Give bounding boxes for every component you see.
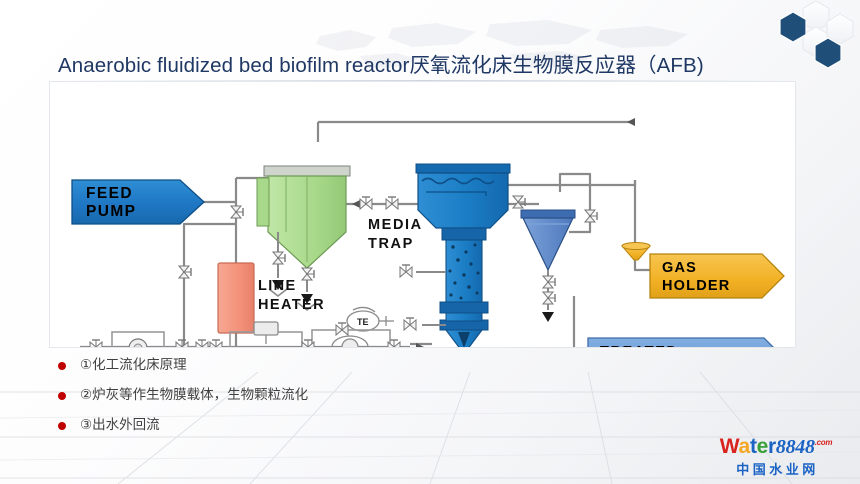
valve-media-trap-inlet-b [386,197,398,209]
valve-pump-discharge [176,340,188,347]
logo-letter-w: W [720,435,739,458]
bullet-dot-icon [58,392,66,400]
hex-filled-left [780,12,806,42]
bullet-text: ①化工流化床原理 [80,357,187,373]
valve-bypass [179,266,191,278]
recirculation-pump [124,339,152,347]
valve-separator-drain-b [543,292,555,304]
valve-feed-header [231,206,243,218]
instrument-tag-te: TE [357,317,369,327]
media-trap-label-line1: MEDIA [368,217,423,233]
line-heater-label-line2: HEATER [258,297,325,313]
gas-holder-arrow: GAS HOLDER [650,254,784,298]
logo-letter-a: a [739,435,750,458]
control-valve-actuator [254,322,278,344]
logo-letter-e: e [757,435,768,458]
flow-element-instrument [332,336,368,347]
title-underline [50,80,795,81]
list-item: ③出水外回流 [58,412,618,439]
list-item: ①化工流化床原理 [58,352,618,379]
bullet-dot-icon [58,362,66,370]
gas-holder-label-line2: HOLDER [662,278,730,294]
separator-cone-vessel [521,210,575,270]
logo-wordmark: Water8848.com [706,432,846,458]
valve-fe-top [336,323,348,335]
valve-pump-suction [90,340,102,347]
gas-holder-label-line1: GAS [662,260,697,276]
valve-heater-outlet [196,340,208,347]
line-heater-label-line1: LINE [258,278,297,294]
logo-letter-t: t [750,435,757,458]
list-item: ②炉灰等作生物膜载体，生物颗粒流化 [58,382,618,409]
process-flow-diagram: FEED PUMP [50,82,795,347]
gas-holder-funnel [622,243,650,261]
watermark-logo: Water8848.com 中国水业网 [706,432,846,478]
page-title: Anaerobic fluidized bed biofilm reactor厌… [58,48,818,78]
logo-tld: .com [815,438,832,447]
diagram-image-panel: FEED PUMP [50,82,795,347]
media-trap-vessel [257,166,350,268]
bullet-text: ③出水外回流 [80,417,160,433]
valve-separator-return [585,210,597,222]
treated-water-label-line1: TREATED [600,344,679,347]
bullet-dot-icon [58,422,66,430]
valve-media-trap-right [302,268,314,280]
valve-reactor-bottom [404,318,416,330]
logo-number: 8848 [776,436,815,458]
logo-letter-r: r [768,435,776,458]
line-heater-vessel [218,263,254,333]
treated-water-tank-arrow: TREATED WATER TANK [588,338,786,347]
reactor-lower-section [446,313,482,321]
valve-reactor-side [400,265,412,277]
media-trap-label-line2: TRAP [368,236,414,252]
feed-pump-arrow: FEED PUMP [72,180,204,224]
bullet-text: ②炉灰等作生物膜载体，生物颗粒流化 [80,387,308,403]
valve-separator-drain-a [543,276,555,288]
valve-media-trap-left [273,252,285,264]
bullet-list: ①化工流化床原理 ②炉灰等作生物膜载体，生物颗粒流化 ③出水外回流 [58,352,618,442]
slide-canvas: Anaerobic fluidized bed biofilm reactor厌… [0,0,860,484]
temperature-element-instrument [347,307,394,331]
feed-pump-label-line1: FEED [86,185,133,202]
logo-subtitle: 中国水业网 [706,459,846,478]
valve-media-trap-inlet-a [360,197,372,209]
valve-separator-inlet [513,196,525,208]
valve-control-upstream [210,340,222,347]
feed-pump-label-line2: PUMP [86,203,136,220]
